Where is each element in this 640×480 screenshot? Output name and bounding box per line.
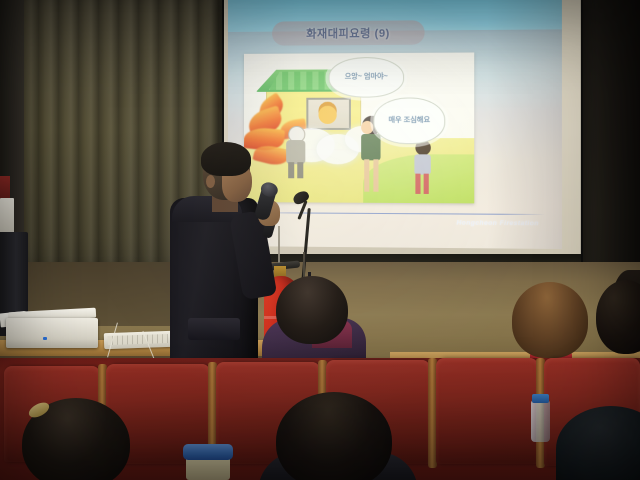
auditorium-seat	[436, 358, 538, 464]
presenter-hair	[201, 142, 251, 176]
water-bottle-cap	[532, 394, 549, 403]
projection-screen: 화재대피요령 (9)	[222, 0, 583, 272]
cartoon-figure-leg	[364, 159, 369, 191]
cartoon-figure-leg	[288, 162, 294, 178]
audience-member-purple-coat-head	[276, 276, 348, 344]
cartoon-figure-leg	[373, 159, 378, 191]
cartoon-figure-body	[414, 154, 430, 174]
cartoon-speech-bubble-2-text: 매우 조심해요	[374, 98, 444, 143]
printer-power-led	[43, 337, 47, 340]
amplifier-unit	[0, 198, 14, 234]
presenter-ear	[206, 175, 215, 188]
cartoon-figure-leg	[297, 162, 303, 178]
cartoon-speech-bubble-2: 매우 조심해요	[373, 97, 445, 144]
audience-member-brown-hair-head	[512, 282, 588, 358]
cartoon-figure-child	[412, 140, 435, 195]
cartoon-figure-leg	[415, 174, 420, 194]
cartoon-speech-bubble-1-text: 으앙~ 엄마야~	[330, 58, 403, 97]
cartoon-house-window	[306, 98, 351, 130]
printer-scanner	[6, 318, 98, 348]
mic-stand-capsule	[291, 189, 310, 206]
thermos-lid	[183, 444, 233, 460]
cartoon-figure-firefighter	[284, 126, 308, 178]
audience-member-center-head	[276, 392, 392, 480]
photo-scene: 화재대피요령 (9)	[0, 0, 640, 480]
cartoon-speech-bubble-1: 으앙~ 엄마야~	[329, 57, 404, 98]
slide-footer: Hongcheon Firestation	[456, 220, 538, 228]
cartoon-figure-face	[361, 121, 373, 134]
keyboard-keys	[108, 334, 168, 345]
slide-title: 화재대피요령 (9)	[272, 20, 425, 45]
cartoon-figure-body	[286, 140, 305, 164]
slide-cartoon-illustration: 으앙~ 엄마야~ 매우 조심해요	[244, 52, 474, 203]
cartoon-figure-leg	[424, 174, 429, 194]
cartoon-child-at-window	[318, 106, 336, 124]
presenter-jacket-pocket	[188, 318, 240, 340]
water-bottle	[531, 400, 550, 442]
